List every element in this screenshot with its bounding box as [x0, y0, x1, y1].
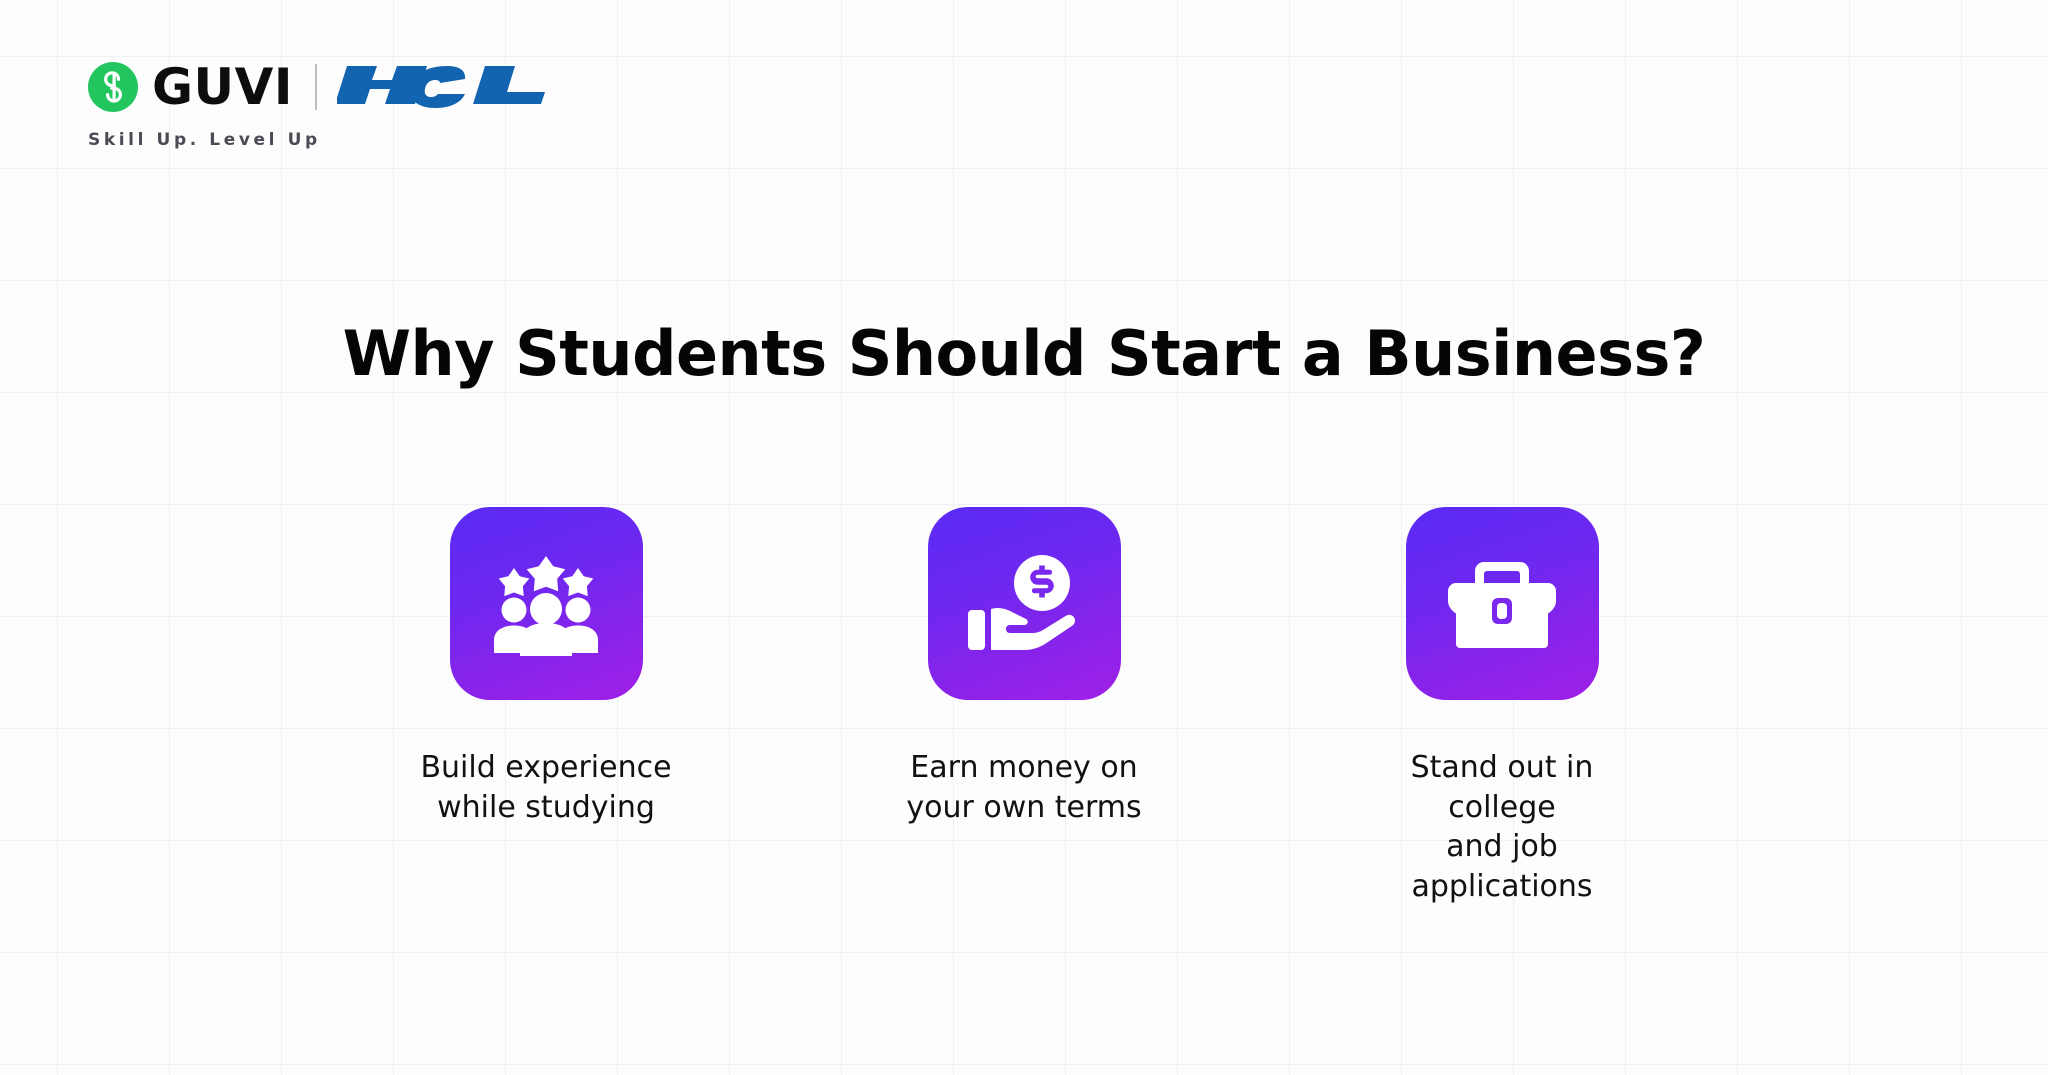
- brand-lockup: GUVI Skill Up. Level Up: [88, 58, 549, 150]
- benefit-card: Build experience while studying: [411, 507, 681, 906]
- benefit-icon-tile: [1406, 507, 1599, 700]
- benefit-caption: Earn money on your own terms: [906, 748, 1141, 827]
- guvi-g-mark-icon: [88, 62, 138, 112]
- benefit-caption: Stand out in college and job application…: [1367, 748, 1637, 906]
- benefit-icon-tile: [450, 507, 643, 700]
- benefit-card: Stand out in college and job application…: [1367, 507, 1637, 906]
- brand-divider: [315, 64, 317, 110]
- brand-tagline: Skill Up. Level Up: [88, 130, 321, 150]
- benefit-caption: Build experience while studying: [420, 748, 671, 827]
- page-title: Why Students Should Start a Business?: [0, 320, 2048, 388]
- group-with-stars-icon: [490, 552, 602, 656]
- slide-canvas: GUVI Skill Up. Level Up Why Students Sho: [0, 0, 2048, 1075]
- hand-holding-dollar-coin-icon: [966, 552, 1082, 656]
- guvi-wordmark: GUVI: [152, 62, 293, 112]
- hcl-wordmark: [337, 62, 549, 113]
- briefcase-icon: [1446, 556, 1558, 652]
- benefit-card-row: Build experience while studying: [0, 507, 2048, 906]
- benefit-icon-tile: [928, 507, 1121, 700]
- brand-logo-row: GUVI: [88, 58, 549, 116]
- benefit-card: Earn money on your own terms: [889, 507, 1159, 906]
